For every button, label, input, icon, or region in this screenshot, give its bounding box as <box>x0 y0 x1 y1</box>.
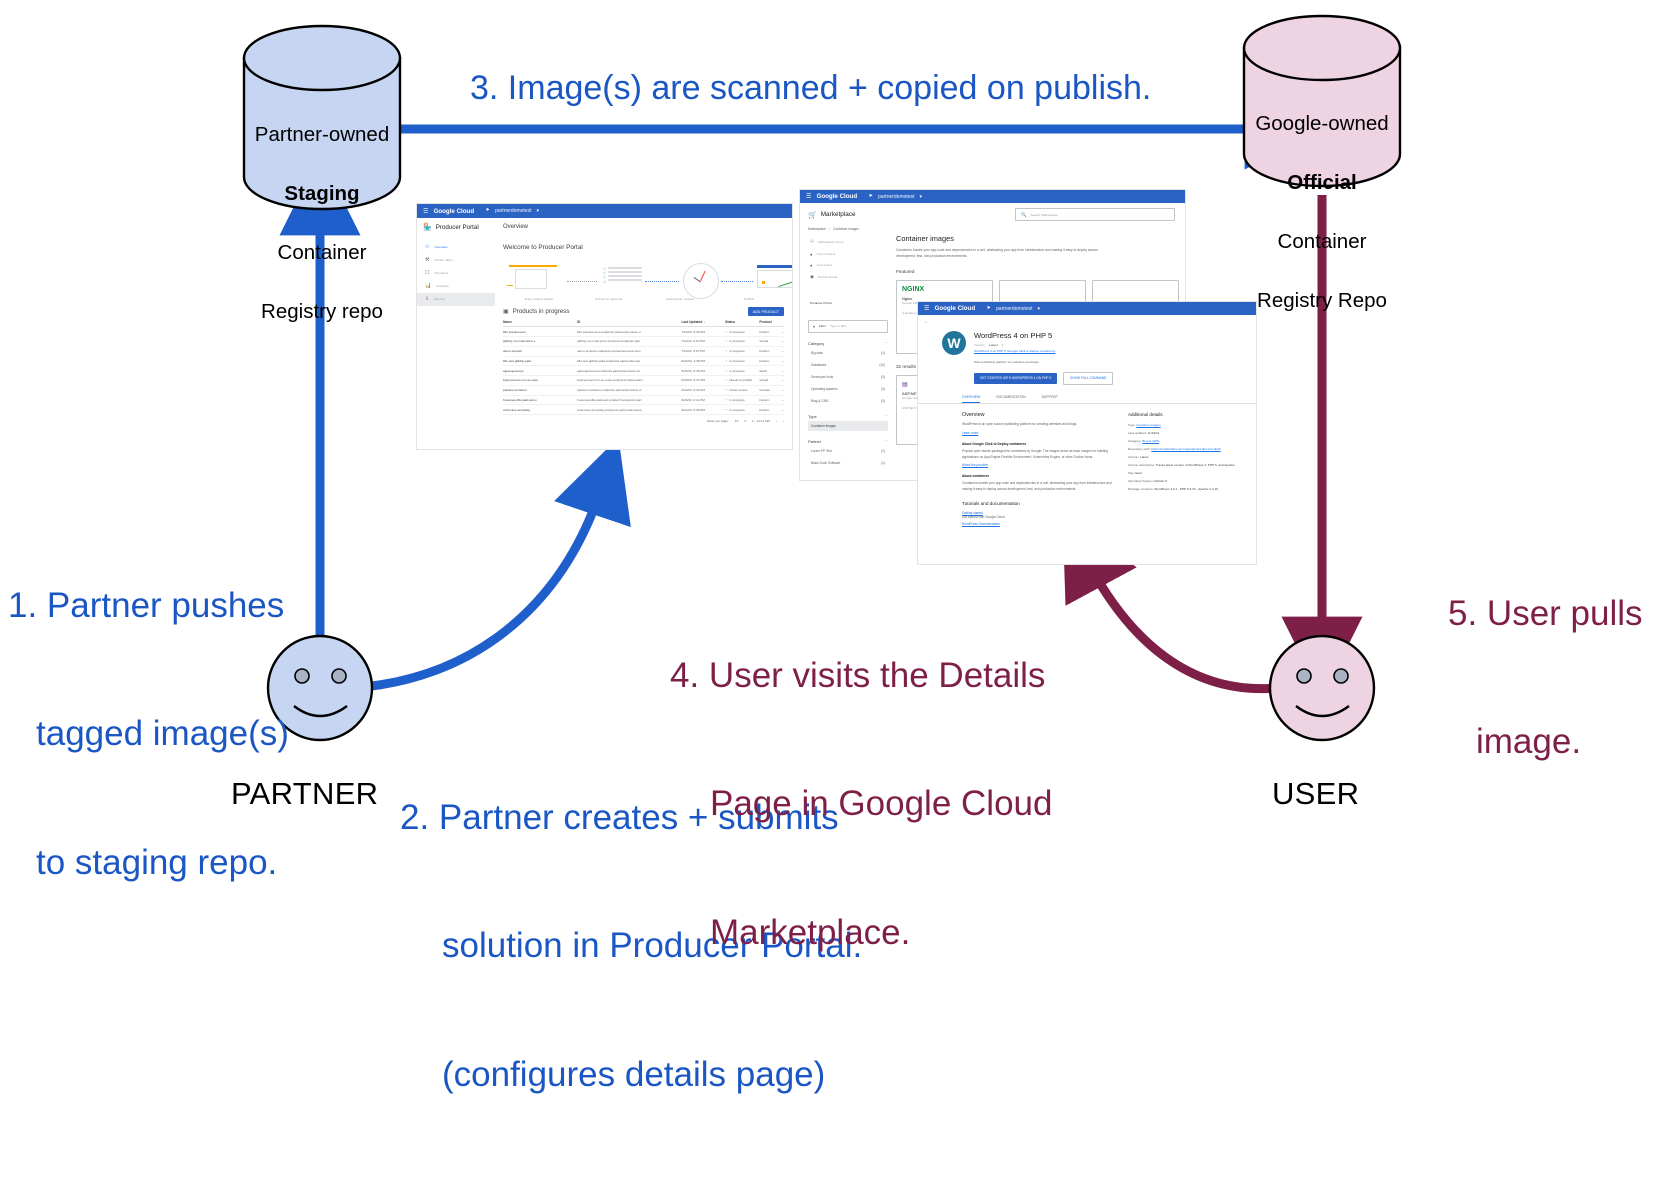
pp-nav-label: Payments <box>434 271 448 275</box>
facet-option-count: (1) <box>881 461 885 465</box>
facet-group: Partner⌃Lorem PP Test(1)Black Duck Softw… <box>808 431 888 468</box>
step5-line2: image. <box>1448 721 1643 764</box>
mp-nav-label: Your orders <box>816 263 832 267</box>
th-status[interactable]: Status <box>725 320 759 324</box>
staging-line1: Partner-owned <box>232 120 412 150</box>
dp-detail-value: Debian 8 <box>1154 479 1166 483</box>
home-icon: ☉ <box>810 239 814 245</box>
mp-search-input[interactable]: Search Marketplace <box>1030 213 1058 217</box>
cell-last-updated: 7/13/22, 6:30 PM <box>681 330 725 334</box>
cell-id: kyleryan-test-vm-no-oops.endpoints.partn… <box>577 378 681 382</box>
dp-tab-overview[interactable]: OVERVIEW <box>962 395 980 403</box>
pp-rows-per-page-label: Rows per page: <box>707 419 729 423</box>
step2-line3: (configures details page) <box>400 1054 862 1097</box>
pp-nav-label: Reports <box>434 297 445 301</box>
pp-stepper-label: Enter product details <box>505 297 573 301</box>
project-icon: ⯈ <box>485 207 490 215</box>
th-id[interactable]: ID <box>577 320 681 324</box>
table-row[interactable]: kyleryan-test-vm-no-oopskyleryan-test-vm… <box>503 376 784 386</box>
pp-step-3-clock <box>683 263 719 299</box>
cell-name: paulina-container <box>503 388 577 392</box>
dp-version-value[interactable]: Latest <box>989 343 997 347</box>
back-arrow-icon[interactable]: ← <box>918 315 1256 325</box>
dp-detail-row: Repository path: https://marketplace.gcr… <box>1128 445 1248 453</box>
status-icon: ◔ <box>725 339 727 343</box>
mp-facet-list: Category⌃Big data(1)Databases(10)Develop… <box>808 333 888 468</box>
pp-products-header: ▣ Products in progress ADD PRODUCT <box>495 303 792 316</box>
pp-nav-item-overview[interactable]: ☉ Overview <box>417 240 495 253</box>
cell-last-updated: 6/23/22, 6:37 PM <box>681 378 725 382</box>
pp-page-title: Overview <box>495 218 792 230</box>
facet-option[interactable]: Operating systems(3) <box>808 384 888 394</box>
pp-step-2: ✓✓✓✓ <box>603 265 642 283</box>
official-line1: Google-owned <box>1232 109 1412 139</box>
card-icon: ☐ <box>425 270 429 276</box>
chart-icon: 📊 <box>425 283 431 289</box>
cell-last-updated: 6/24/22, 5:36 PM <box>681 369 725 373</box>
cell-id: gbbbly-vm-multi-price-structure.endpoint… <box>577 339 681 343</box>
pp-nav-item-payments[interactable]: ☐ Payments <box>417 266 495 279</box>
dp-detail-value[interactable]: Blog & CMS <box>1142 439 1159 443</box>
facet-title[interactable]: Category⌃ <box>808 341 888 346</box>
pp-stepper: ✓✓✓✓ <box>505 259 782 303</box>
mp-sidebar: ☉ Marketplace home ♦ Your products ♦ You… <box>808 236 888 468</box>
pp-step-1 <box>505 265 563 289</box>
mp-nav-item-producer-portal[interactable]: Producer Portal <box>808 284 888 312</box>
facet-option-label: Developer tools <box>811 375 833 379</box>
dp-section: About containersContainers bundle your a… <box>962 467 1114 492</box>
facet-option-count: (10) <box>879 363 885 367</box>
pp-nav-item-private-offers[interactable]: ⚒ Private offers <box>417 253 495 266</box>
mp-filter-label: Filter <box>819 324 826 328</box>
hamburger-menu-icon[interactable]: ☰ <box>806 193 812 200</box>
dp-tutorials: Tutorials and documentation Getting star… <box>918 493 1256 526</box>
step4-label: 4. User visits the Details Page in Googl… <box>670 570 1052 1040</box>
pp-stepper-labels: Enter product details Submit for approva… <box>505 297 782 301</box>
dp-detail-key: Category: <box>1128 439 1142 443</box>
nginx-logo: NGINX <box>902 286 987 293</box>
dp-section-link[interactable]: About the provider <box>962 460 1114 467</box>
hamburger-menu-icon[interactable]: ☰ <box>924 305 930 312</box>
chevron-down-icon[interactable]: ⌄ <box>781 408 784 412</box>
dp-detail-value[interactable]: Container images <box>1136 423 1160 427</box>
dp-cta-secondary-button[interactable]: SHOW FULL COMMAND <box>1063 372 1113 385</box>
table-row[interactable]: demo-productdemo-product-endpoints.partn… <box>503 347 784 357</box>
dp-detail-key: Last updated: <box>1128 431 1148 435</box>
tag-icon: ⚒ <box>425 257 429 263</box>
mp-page-title: Container images <box>896 234 1179 243</box>
breadcrumb-separator: › <box>829 227 830 231</box>
th-last-updated[interactable]: Last Updated ↓ <box>681 320 725 324</box>
arrow-step4-visit <box>1090 566 1276 689</box>
cart-icon: 🛒 <box>808 211 817 219</box>
pp-topbar: ☰ Google Cloud ⯈ partnerdemotest ▾ <box>417 204 792 218</box>
cell-product: Virtual⌄ <box>759 339 784 343</box>
facet-option-label: Operating systems <box>811 387 838 391</box>
receipt-icon: ♦ <box>810 263 812 268</box>
pp-nav-item-analytics[interactable]: 📊 Analytics <box>417 280 495 293</box>
facet-option-count: (1) <box>881 351 885 355</box>
staging-line3: Container <box>232 238 412 268</box>
chevron-up-icon[interactable]: ⌃ <box>885 414 888 419</box>
chevron-up-icon[interactable]: ⌃ <box>885 439 888 444</box>
cell-id: wzimotive-test-jitsig.endpoints.partnerd… <box>577 408 681 412</box>
table-row[interactable]: gbbbly-vm-multi-price-sgbbbly-vm-multi-p… <box>503 337 784 347</box>
cell-status: ◔Needs to publish <box>725 378 759 382</box>
cell-id: agrsequeit-test-endpoints.partnerdemotes… <box>577 369 681 373</box>
step1-line2: tagged image(s) <box>8 713 289 756</box>
cell-last-updated: 6/23/22, 9:11 PM <box>681 398 725 402</box>
facet-option[interactable]: Databases(10) <box>808 360 888 370</box>
status-icon: ◔ <box>725 330 727 334</box>
pp-app-title: Producer Portal <box>436 224 479 231</box>
dp-detail-key: Package contents: <box>1128 487 1154 491</box>
diagram-canvas: Partner-owned Staging Container Registry… <box>0 0 1679 896</box>
dp-detail-key: Version: <box>1128 455 1140 459</box>
th-name[interactable]: Name <box>503 320 577 324</box>
pp-rows-per-page-value[interactable]: 10 <box>735 419 738 423</box>
pp-nav-list: ☉ Overview ⚒ Private offers ☐ Payments 📊… <box>417 236 495 306</box>
facet-option-label: Container images <box>811 424 836 428</box>
cell-status: ◔In progress <box>725 408 759 412</box>
chevron-down-icon[interactable]: ▾ <box>1002 343 1004 347</box>
pp-products-table: Name ID Last Updated ↓ Status Product k8… <box>503 320 784 423</box>
mp-nav-item-home[interactable]: ☉ Marketplace home <box>808 236 888 248</box>
mp-nav-item-partner-portal[interactable]: ◉ Partner Portal <box>808 271 888 283</box>
mp-app-title: Marketplace <box>821 211 856 218</box>
status-icon: ◔ <box>725 388 727 392</box>
facet-group: Type⌃Container images <box>808 406 888 431</box>
table-row[interactable]: hussnias-k8s-paid-test-phussnias-k8s-pai… <box>503 396 784 406</box>
facet-option-label: Big data <box>811 351 823 355</box>
dp-topbar: ☰ Google Cloud ⯈ partnerdemotest ▾ <box>918 302 1256 315</box>
dp-section: About Google Click to Deploy containersP… <box>962 435 1114 467</box>
dp-detail-value: 11/10/21 <box>1148 431 1160 435</box>
cell-name: hussnias-k8s-paid-test-p <box>503 398 577 402</box>
facet-option[interactable]: Black Duck Software(1) <box>808 458 888 468</box>
cell-last-updated: 7/11/22, 6:37 PM <box>681 349 725 353</box>
search-icon: 🔍 <box>1021 212 1026 218</box>
cell-id: k8s-preview-test-endpoints.partnerdemote… <box>577 330 681 334</box>
cell-id: paulina-container.endpoints.partnerdemot… <box>577 388 681 392</box>
dp-sections: About Google Click to Deploy containersP… <box>962 435 1114 492</box>
pp-welcome: Welcome to Producer Portal <box>495 230 792 251</box>
pp-step-dots-3 <box>721 281 753 282</box>
chevron-down-icon[interactable]: ⌄ <box>781 369 784 373</box>
step-accent <box>507 285 513 286</box>
step4-line2: Page in Google Cloud <box>670 783 1052 826</box>
chevron-down-icon[interactable]: ⌄ <box>781 359 784 363</box>
screenshot-producer-portal[interactable]: ☰ Google Cloud ⯈ partnerdemotest ▾ 🏪 Pro… <box>417 204 792 449</box>
breadcrumb-item[interactable]: Container images <box>833 227 859 231</box>
pp-step-4 <box>757 265 792 288</box>
table-row[interactable]: wzimotive-test-jitsigwzimotive-test-jits… <box>503 405 784 415</box>
mp-search-box[interactable]: 🔍 Search Marketplace <box>1015 208 1175 221</box>
cell-name: agrsequeit-test <box>503 369 577 373</box>
chevron-down-icon[interactable]: ⌄ <box>781 378 784 382</box>
chevron-down-icon[interactable]: ⌄ <box>781 330 784 334</box>
facet-option[interactable]: Container images <box>808 421 888 431</box>
step4-line1: 4. User visits the Details <box>670 655 1052 698</box>
facet-option-count: (3) <box>881 387 885 391</box>
status-icon: ◔ <box>725 398 727 402</box>
cell-product: Kubern⌄ <box>759 330 784 334</box>
table-row[interactable]: k8s-test-gbbbly-paidk8s-test-gbbbly-paid… <box>503 357 784 367</box>
table-header-row: Name ID Last Updated ↓ Status Product <box>503 320 784 327</box>
dp-tabs: OVERVIEW DOCUMENTATION SUPPORT <box>918 385 1256 404</box>
dp-tab-documentation[interactable]: DOCUMENTATION <box>996 395 1025 403</box>
official-line3: Container <box>1232 227 1412 257</box>
cell-id: k8s-test-gbbbly-paid.endpoints.partnerde… <box>577 359 681 363</box>
pp-nav-label: Private offers <box>434 258 452 262</box>
pp-app-title-row: 🏪 Producer Portal <box>417 218 495 236</box>
building-icon: ◉ <box>810 274 814 280</box>
dp-detail-row: Operating System: Debian 8 <box>1128 477 1248 485</box>
step1-label: 1. Partner pushes tagged image(s) to sta… <box>8 500 289 970</box>
dp-detail-key: Tag: <box>1128 471 1135 475</box>
cell-name: k8s-preview-test <box>503 330 577 334</box>
status-icon: ◔ <box>725 408 727 412</box>
facet-option[interactable]: Lorem PP Test(1) <box>808 446 888 456</box>
staging-line4: Registry repo <box>232 297 412 327</box>
pp-sidebar: 🏪 Producer Portal ☉ Overview ⚒ Private o… <box>417 218 495 449</box>
chevron-down-icon[interactable]: ▾ <box>920 194 923 200</box>
dp-tab-support[interactable]: SUPPORT <box>1042 395 1058 403</box>
arrow-step2-submit <box>352 492 600 688</box>
step1-line3: to staging repo. <box>8 842 289 885</box>
step-bar <box>509 265 557 267</box>
cell-status: ◔In progress <box>725 330 759 334</box>
chevron-down-icon[interactable]: ⌄ <box>781 339 784 343</box>
chevron-down-icon[interactable]: ▾ <box>537 208 540 214</box>
official-line4: Registry Repo <box>1232 286 1412 316</box>
pp-stepper-label: Submit for approval <box>573 297 645 301</box>
dp-tutorial-link[interactable]: WordPress Documentation <box>962 519 1248 526</box>
facet-title[interactable]: Type⌃ <box>808 414 888 419</box>
dp-detail-value[interactable]: https://marketplace.gcr.io/google/wordpr… <box>1151 447 1220 451</box>
mp-nav-label: Your products <box>816 252 835 256</box>
mp-nav-label: Partner Portal <box>818 275 837 279</box>
staging-line2: Staging <box>232 179 412 209</box>
pp-nav-label: Overview <box>434 245 447 249</box>
dp-detail-key: Version description: <box>1128 463 1156 467</box>
dp-overview-col: Overview WordPress is an open source pub… <box>962 412 1114 493</box>
dp-detail-row: Version: Latest <box>1128 453 1248 461</box>
table-row[interactable]: agrsequeit-testagrsequeit-test-endpoints… <box>503 366 784 376</box>
step5-line1: 5. User pulls <box>1448 593 1643 636</box>
wordpress-logo-icon: W <box>942 331 966 355</box>
dp-detail-row: Category: Blog & CMS <box>1128 437 1248 445</box>
pp-table-body: k8s-preview-testk8s-preview-test-endpoin… <box>503 327 784 415</box>
pp-brand: Google Cloud <box>434 208 475 215</box>
cell-product: Kubern⌄ <box>759 349 784 353</box>
cell-status: ◔In progress <box>725 398 759 402</box>
mp-featured-label: Featured <box>896 259 1179 274</box>
next-page-icon[interactable]: › <box>783 419 784 423</box>
step5-label: 5. User pulls image. <box>1448 508 1643 850</box>
pp-content: Overview Welcome to Producer Portal <box>495 218 792 449</box>
facet-option[interactable]: Big data(1) <box>808 348 888 358</box>
facet-option-label: Black Duck Software <box>811 461 840 465</box>
dp-version-label: Version: <box>974 343 985 347</box>
facet-option-count: (1) <box>881 449 885 453</box>
user-avatar <box>1270 636 1374 740</box>
cell-last-updated: 6/24/22, 4:38 PM <box>681 359 725 363</box>
dp-detail-value: latest <box>1135 471 1142 475</box>
home-icon: ☉ <box>425 244 429 250</box>
status-icon: ◔ <box>725 369 727 373</box>
project-icon: ⯈ <box>986 305 991 313</box>
package-icon: ♦ <box>810 252 812 257</box>
dp-detail-row: Package contents: WordPress 4.9.1 , PHP … <box>1128 485 1248 493</box>
cell-product: Kubern⌄ <box>759 359 784 363</box>
dp-product-header: W WordPress 4 on PHP 5 Version: Latest ▾… <box>918 325 1256 385</box>
dp-detail-row: Last updated: 11/10/21 <box>1128 429 1248 437</box>
mp-brand: Google Cloud <box>817 193 858 200</box>
mp-breadcrumb: Marketplace › Container images <box>800 221 1185 231</box>
cell-id: hussnias-k8s-paid-test-product7.endpoint… <box>577 398 681 402</box>
pp-add-product-button[interactable]: ADD PRODUCT <box>748 307 784 316</box>
step4-line3: Marketplace. <box>670 912 1052 955</box>
mp-title-row: 🛒 Marketplace 🔍 Search Marketplace <box>800 203 1185 221</box>
mp-project[interactable]: partnerdemotest <box>878 194 914 200</box>
chevron-down-icon[interactable]: ⌄ <box>781 388 784 392</box>
dp-section-body: Popular open stacks packaged for contain… <box>962 446 1114 460</box>
store-icon: 🏪 <box>423 223 432 231</box>
facet-option[interactable]: Developer tools(3) <box>808 372 888 382</box>
dp-tagline: Web publishing platform for websites and… <box>974 353 1113 364</box>
cell-product: Contain⌄ <box>759 388 784 392</box>
table-row[interactable]: k8s-preview-testk8s-preview-test-endpoin… <box>503 327 784 337</box>
mp-card-title: Nginx <box>902 293 987 301</box>
dp-detail-value: Tracks latest version of WordPress 4, PH… <box>1156 463 1235 467</box>
pp-stepper-label: Await admin reviews <box>644 297 716 301</box>
cell-status: ◔Under review <box>725 388 759 392</box>
chevron-up-icon[interactable]: ⌃ <box>885 341 888 346</box>
th-product[interactable]: Product <box>759 320 784 324</box>
cell-name: wzimotive-test-jitsig <box>503 408 577 412</box>
cell-status: ◔In progress <box>725 369 759 373</box>
pp-step-dots-2 <box>645 281 679 282</box>
mp-topbar: ☰ Google Cloud ⯈ partnerdemotest ▾ <box>800 190 1185 203</box>
chevron-down-icon[interactable]: ▾ <box>744 419 746 423</box>
dp-detail-row: Tag: latest <box>1128 469 1248 477</box>
dp-cta-primary-button[interactable]: GET STARTED WITH WORDPRESS 4 ON PHP 5 <box>974 373 1057 384</box>
dp-additional-details-col: Additional details Type: Container image… <box>1128 412 1248 493</box>
status-icon: ◔ <box>725 378 727 382</box>
chevron-down-icon[interactable]: ▾ <box>1038 306 1041 312</box>
step-card <box>515 269 547 289</box>
step1-line1: 1. Partner pushes <box>8 585 289 628</box>
pp-step-dots-1 <box>567 267 597 282</box>
official-repo-label: Google-owned Official Container Registry… <box>1232 79 1412 345</box>
chevron-down-icon[interactable]: ⌄ <box>781 349 784 353</box>
dp-project[interactable]: partnerdemotest <box>996 306 1032 312</box>
cell-last-updated: 7/11/22, 6:47 PM <box>681 339 725 343</box>
pp-nav-label: Analytics <box>436 284 448 288</box>
cell-product: Kubern⌄ <box>759 408 784 412</box>
facet-title[interactable]: Partner⌃ <box>808 439 888 444</box>
cell-status: ◔In progress <box>725 349 759 353</box>
pp-stepper-label: Publish <box>716 297 782 301</box>
filter-icon: ▾ <box>813 324 815 329</box>
pp-range: 1 – 10 of 190 <box>752 419 770 423</box>
dp-detail-row: Version description: Tracks latest versi… <box>1128 461 1248 469</box>
dp-brand: Google Cloud <box>935 305 976 312</box>
mp-nav-item-your-orders[interactable]: ♦ Your orders <box>808 260 888 271</box>
dp-product-title: WordPress 4 on PHP 5 <box>974 331 1113 340</box>
cell-product: Kubern⌄ <box>759 398 784 402</box>
facet-option[interactable]: Blog & CMS(3) <box>808 396 888 406</box>
mp-page-desc: Containers bundle your app code and depe… <box>896 243 1111 259</box>
pp-pagination[interactable]: Rows per page: 10 ▾ 1 – 10 of 190 ‹ › <box>503 415 784 423</box>
pp-project[interactable]: partnerdemotest <box>495 208 531 214</box>
official-line2: Official <box>1232 168 1412 198</box>
chevron-down-icon[interactable]: ⌄ <box>781 398 784 402</box>
cell-name: demo-product <box>503 349 577 353</box>
project-icon: ⯈ <box>868 193 873 201</box>
facet-option-label: Lorem PP Test <box>811 449 832 453</box>
dp-detail-value: WordPress 4.9.1 , PHP 5.6.33 , Apache 2.… <box>1154 487 1218 491</box>
box-icon: ▣ <box>503 308 509 315</box>
user-actor-label: USER <box>1272 775 1359 813</box>
dp-section-body: Containers bundle your app code and depe… <box>962 478 1114 492</box>
facet-group: Category⌃Big data(1)Databases(10)Develop… <box>808 333 888 406</box>
cell-product: SaaS⌄ <box>759 369 784 373</box>
facet-option-count: (3) <box>881 375 885 379</box>
cell-id: demo-product-endpoints.partnerdemotest.c… <box>577 349 681 353</box>
dp-body: Overview WordPress is an open source pub… <box>918 404 1256 493</box>
breadcrumb-item[interactable]: Marketplace <box>808 227 826 231</box>
dp-detail-key: Repository path: <box>1128 447 1151 451</box>
facet-option-count: (3) <box>881 399 885 403</box>
mp-nav-item-your-products[interactable]: ♦ Your products <box>808 248 888 259</box>
dp-detail-value: Latest <box>1140 455 1148 459</box>
cell-last-updated: 6/23/22, 5:40 PM <box>681 388 725 392</box>
mp-nav-label: Marketplace home <box>818 240 843 244</box>
dp-details-list: Type: Container imagesLast updated: 11/1… <box>1128 417 1248 493</box>
facet-option-label: Databases <box>811 363 826 367</box>
cell-last-updated: 6/14/22, 5:09 PM <box>681 408 725 412</box>
cell-name: kyleryan-test-vm-no-oops <box>503 378 577 382</box>
status-icon: ◔ <box>725 349 727 353</box>
pp-section-title: Products in progress <box>513 308 570 315</box>
cell-name: gbbbly-vm-multi-price-s <box>503 339 577 343</box>
download-icon: ⇩ <box>425 296 429 302</box>
cell-name: k8s-test-gbbbly-paid <box>503 359 577 363</box>
pp-nav-item-reports[interactable]: ⇩ Reports <box>417 293 495 306</box>
status-icon: ◔ <box>725 359 727 363</box>
dp-learn-more-link[interactable]: Learn more <box>962 427 1114 435</box>
dp-detail-row: Type: Container images <box>1128 421 1248 429</box>
screenshot-details-page[interactable]: ☰ Google Cloud ⯈ partnerdemotest ▾ ← W W… <box>918 302 1256 564</box>
mp-nav-label: Producer Portal <box>810 301 832 305</box>
staging-repo-label: Partner-owned Staging Container Registry… <box>232 90 412 356</box>
cell-product: Virtual⌄ <box>759 378 784 382</box>
dp-overview-body: WordPress is an open source publishing p… <box>962 418 1114 427</box>
step3-label: 3. Image(s) are scanned + copied on publ… <box>470 68 1151 109</box>
dp-detail-key: Operating System: <box>1128 479 1154 483</box>
mp-filter-box[interactable]: ▾ Filter Type to filter <box>808 320 888 333</box>
cell-status: ◔In progress <box>725 339 759 343</box>
facet-option-label: Blog & CMS <box>811 399 828 403</box>
mp-filter-input[interactable]: Type to filter <box>830 324 847 328</box>
table-row[interactable]: paulina-containerpaulina-container.endpo… <box>503 386 784 396</box>
prev-page-icon[interactable]: ‹ <box>776 419 777 423</box>
hamburger-menu-icon[interactable]: ☰ <box>423 208 429 215</box>
cell-status: ◔In progress <box>725 359 759 363</box>
